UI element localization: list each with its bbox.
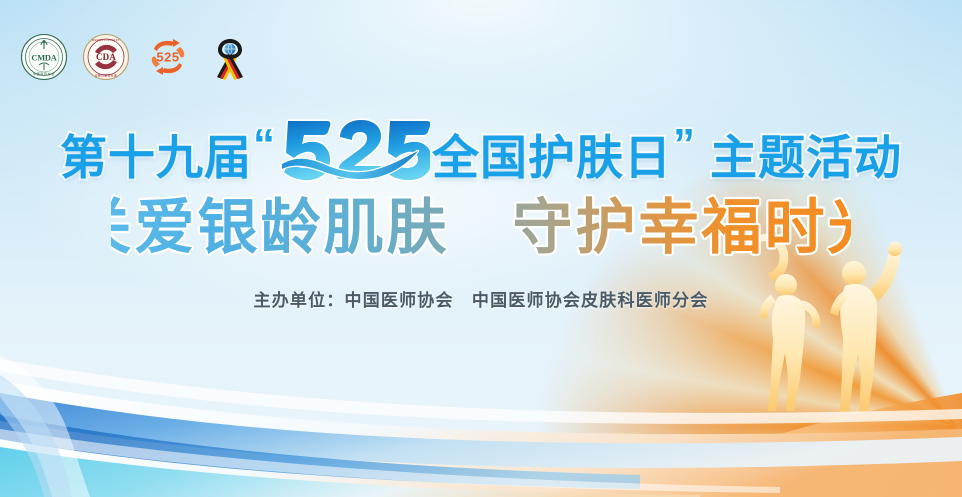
svg-text:DERMATOLOGIST: DERMATOLOGIST bbox=[92, 38, 119, 42]
headline-quote-close: ” bbox=[673, 120, 695, 170]
headline-prefix: 第十九届 bbox=[60, 119, 252, 188]
headline-quote-open: “ bbox=[253, 120, 275, 170]
organizer-logo-row: CMDA 中国医师协会 CDA DERMATOLOGIST 皮肤科医师分会 bbox=[20, 33, 254, 81]
blue-ribbon-waves bbox=[0, 297, 962, 497]
cda-logo: CDA DERMATOLOGIST 皮肤科医师分会 bbox=[82, 33, 130, 81]
svg-text:皮肤科医师分会: 皮肤科医师分会 bbox=[95, 73, 117, 77]
svg-text:CMDA: CMDA bbox=[31, 54, 56, 63]
525-emblem bbox=[278, 115, 430, 185]
cmda-logo: CMDA 中国医师协会 bbox=[20, 33, 68, 81]
svg-text:CDA: CDA bbox=[96, 52, 116, 62]
organizer-line: 主办单位：中国医师协会 中国医师协会皮肤科医师分会 bbox=[0, 286, 962, 311]
slogan-text: 关爱银龄肌肤 守护幸福时光 bbox=[111, 195, 851, 261]
headline-suffix: 主题活动 bbox=[710, 119, 902, 188]
svg-text:525: 525 bbox=[156, 50, 179, 65]
slogan: 关爱银龄肌肤 守护幸福时光 bbox=[0, 192, 962, 270]
ribbon-globe-logo bbox=[206, 33, 254, 81]
svg-text:中国医师协会: 中国医师协会 bbox=[33, 71, 55, 76]
headline-middle: 全国护肤日 bbox=[432, 119, 672, 188]
skin-care-day-banner: CMDA 中国医师协会 CDA DERMATOLOGIST 皮肤科医师分会 bbox=[0, 0, 962, 497]
headline: 第十九届“ bbox=[0, 118, 962, 188]
525-hands-logo: 525 bbox=[144, 33, 192, 81]
